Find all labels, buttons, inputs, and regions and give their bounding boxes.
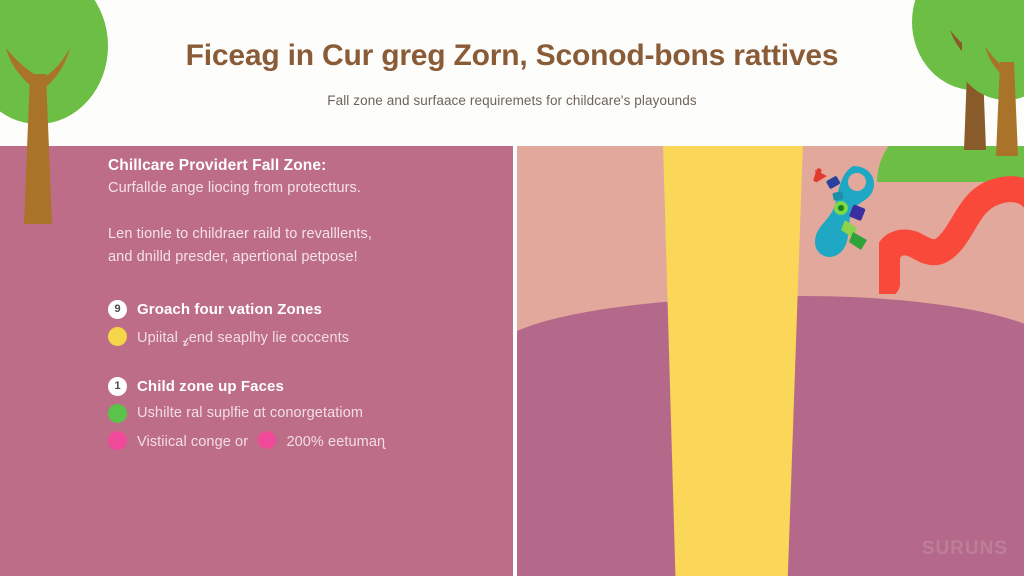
section-title: Chillcare Providert Fall Zone: <box>108 154 478 177</box>
zone-group-1-heading-row: 9 Groach four vation Zones <box>108 300 478 319</box>
tree-left-icon <box>0 0 122 226</box>
group-2-item-1: Ushilte ral suplfie ɑt conorgetatiom <box>108 404 478 423</box>
climbing-structure-icon <box>807 158 887 268</box>
group-2-item-2-text-before: Vistiical conge or <box>137 434 248 450</box>
tree-right-front-icon <box>962 0 1024 164</box>
yellow-bullet-icon <box>108 327 127 346</box>
group-2-heading: Child zone up Faces <box>137 378 284 395</box>
yellow-path <box>663 146 803 576</box>
header-band: Ficeag in Cur greg Zorn, Sconod-bons rat… <box>0 0 1024 146</box>
watermark: SURUNS <box>922 538 1008 560</box>
zone-group-2-heading-row: 1 Child zone up Faces <box>108 377 478 396</box>
paragraph-gap <box>108 201 478 223</box>
header-inner: Ficeag in Cur greg Zorn, Sconod-bons rat… <box>112 0 912 146</box>
zone-group-2: 1 Child zone up Faces Ushilte ral suplfi… <box>108 377 478 450</box>
infographic-canvas: Chillcare Providert Fall Zone: Curfallde… <box>0 0 1024 576</box>
section-body-line-1: Curfallde ange liocing from protectturs. <box>108 177 478 200</box>
group-2-item-2-text-wrapper: Vistiical conge or 200% eetumaɳ <box>137 431 385 450</box>
group-1-number-badge: 9 <box>108 300 127 319</box>
playground-illustration <box>517 146 1024 576</box>
zone-group-1: 9 Groach four vation Zones Upiital ߨend … <box>108 300 478 347</box>
panel-content: Chillcare Providert Fall Zone: Curfallde… <box>108 154 478 458</box>
group-2-number-badge: 1 <box>108 377 127 396</box>
page-title: Ficeag in Cur greg Zorn, Sconod-bons rat… <box>186 39 839 72</box>
group-2-item-2: Vistiical conge or 200% eetumaɳ <box>108 431 478 450</box>
section-body-line-3: and dnilld presder, apertional petpose! <box>108 246 478 269</box>
page-subtitle: Fall zone and surfaace requiremets for c… <box>327 93 697 108</box>
vertical-divider <box>513 150 517 576</box>
magenta-bullet-icon <box>108 431 127 450</box>
green-bullet-icon <box>108 404 127 423</box>
wavy-slide-icon <box>879 164 1024 294</box>
group-1-item-1: Upiital ߨend seaplhy lie coccents <box>108 327 478 347</box>
inline-magenta-dot-icon <box>258 431 276 449</box>
group-1-item-1-text: Upiital ߨend seaplhy lie coccents <box>137 327 349 347</box>
section-body-line-2: Len tionle to childraer raild to revalll… <box>108 223 478 246</box>
lower-region: Chillcare Providert Fall Zone: Curfallde… <box>0 146 1024 576</box>
group-2-item-1-text: Ushilte ral suplfie ɑt conorgetatiom <box>137 405 363 421</box>
group-2-item-2-text-after: 200% eetumaɳ <box>286 434 385 450</box>
group-1-heading: Groach four vation Zones <box>137 301 322 318</box>
